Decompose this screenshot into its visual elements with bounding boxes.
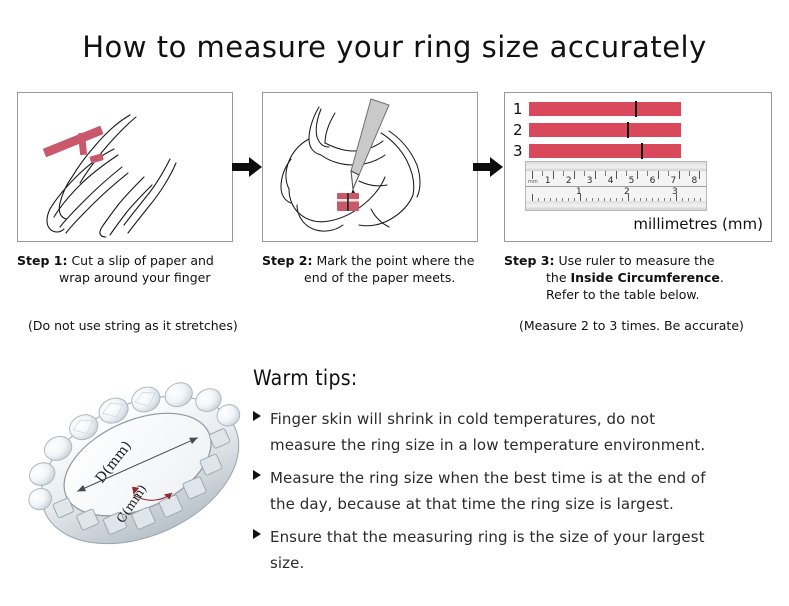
ruler-cm-label: 2 [566, 177, 572, 186]
tip-text: Finger skin will shrink in cold temperat… [270, 406, 723, 458]
ruler-tick [595, 171, 596, 179]
step-3-caption: Step 3: Use ruler to measure the the Ins… [504, 252, 784, 303]
paper-strip-bar [529, 123, 681, 137]
steps-row: 1 2 3 mm 12345678 [0, 92, 789, 242]
page-title: How to measure your ring size accurately [0, 30, 789, 64]
step-2-line2: end of the paper meets. [262, 269, 502, 286]
step-1-label: Step 1: [17, 253, 67, 268]
strip-mark-line [635, 101, 637, 117]
ruler-cm-label: 4 [608, 177, 614, 186]
arrow-step1-to-step2-icon [232, 155, 262, 179]
step-3-label: Step 3: [504, 253, 554, 268]
ruler-centimetre-scale: mm 12345678 [526, 171, 706, 187]
tip-text: Ensure that the measuring ring is the si… [270, 524, 723, 576]
ruler-inch-label: 1 [576, 188, 582, 197]
arrow-step2-to-step3-icon [473, 155, 503, 179]
ruler-cm-label: 5 [629, 177, 635, 186]
step-1-line1: Cut a slip of paper and [71, 253, 213, 268]
step-1-note: (Do not use string as it stretches) [28, 318, 238, 333]
tip-item: Ensure that the measuring ring is the si… [253, 524, 723, 576]
ruler-cm-label: 8 [691, 177, 697, 186]
ruler-tick [689, 171, 690, 176]
ruler-inch-label: 2 [624, 188, 630, 197]
ruler-tick [647, 171, 648, 176]
ruler-top-edge [526, 162, 706, 171]
step-2-line1: Mark the point where the [316, 253, 474, 268]
ruler-tick [616, 171, 617, 179]
ruler-unit-tag: mm [528, 179, 538, 185]
step-3-image-panel: 1 2 3 mm 12345678 [504, 92, 772, 242]
warm-tips-heading: Warm tips: [253, 366, 723, 390]
strip-mark-line [627, 122, 629, 138]
ruler-cm-label: 1 [545, 177, 551, 186]
ruler-tick [553, 171, 554, 179]
ruler-tick [605, 171, 606, 176]
ruler-tick [699, 171, 700, 179]
triangle-bullet-icon [253, 470, 261, 480]
ruler-tick [679, 171, 680, 179]
step-2-label: Step 2: [262, 253, 312, 268]
tip-item: Measure the ring size when the best time… [253, 465, 723, 517]
ruler-cm-label: 7 [671, 177, 677, 186]
ruler-cm-label: 6 [650, 177, 656, 186]
step-1-line2: wrap around your finger [17, 269, 257, 286]
paper-strip-bar [529, 102, 681, 116]
ruler-illustration: mm 12345678 123 [525, 161, 707, 211]
ruler-tick [584, 171, 585, 176]
hand-with-paper-strip-illustration [18, 93, 232, 241]
step-3-note: (Measure 2 to 3 times. Be accurate) [519, 318, 744, 333]
ring-diagram: D(mm) C(mm) [28, 352, 253, 582]
strip-row: 1 [513, 101, 713, 117]
tip-item: Finger skin will shrink in cold temperat… [253, 406, 723, 458]
ruler-bottom-edge [526, 201, 706, 210]
paper-strip-bar [529, 144, 681, 158]
triangle-bullet-icon [253, 411, 261, 421]
ruler-tick [574, 171, 575, 179]
ruler-cm-label: 3 [587, 177, 593, 186]
step-2-image-panel [262, 92, 478, 242]
step-3-line2-prefix: the [546, 270, 571, 285]
step-3-line2: the Inside Circumference. [504, 269, 784, 286]
diamond-eternity-ring-photo: D(mm) C(mm) [28, 352, 253, 582]
ruler-tick [563, 171, 564, 176]
strip-number: 3 [513, 143, 529, 159]
step-3-emphasis: Inside Circumference [571, 270, 720, 285]
strip-row: 3 [513, 143, 713, 159]
step-3-line2-suffix: . [720, 270, 724, 285]
step-2-caption: Step 2: Mark the point where the end of … [262, 252, 502, 286]
ruler-tick [532, 171, 533, 179]
triangle-bullet-icon [253, 529, 261, 539]
ruler-tick [637, 171, 638, 179]
step-3-line3: Refer to the table below. [504, 286, 784, 303]
ruler-tick [658, 171, 659, 179]
ruler-unit-caption: millimetres (mm) [505, 215, 763, 233]
ruler-tick [626, 171, 627, 176]
strip-number: 2 [513, 122, 529, 138]
ruler-tick [542, 171, 543, 176]
tip-text: Measure the ring size when the best time… [270, 465, 723, 517]
step-3-line1: Use ruler to measure the [558, 253, 714, 268]
ruler-tick [668, 171, 669, 176]
strip-number: 1 [513, 101, 529, 117]
strip-mark-line [641, 143, 643, 159]
ruler-inch-label: 3 [672, 188, 678, 197]
warm-tips-section: Warm tips: Finger skin will shrink in co… [253, 366, 723, 583]
step-1-caption: Step 1: Cut a slip of paper and wrap aro… [17, 252, 257, 286]
hand-marking-paper-with-pen-illustration [263, 93, 477, 241]
step-1-image-panel [17, 92, 233, 242]
strip-row: 2 [513, 122, 713, 138]
measured-strips-group: 1 2 3 [513, 101, 713, 164]
